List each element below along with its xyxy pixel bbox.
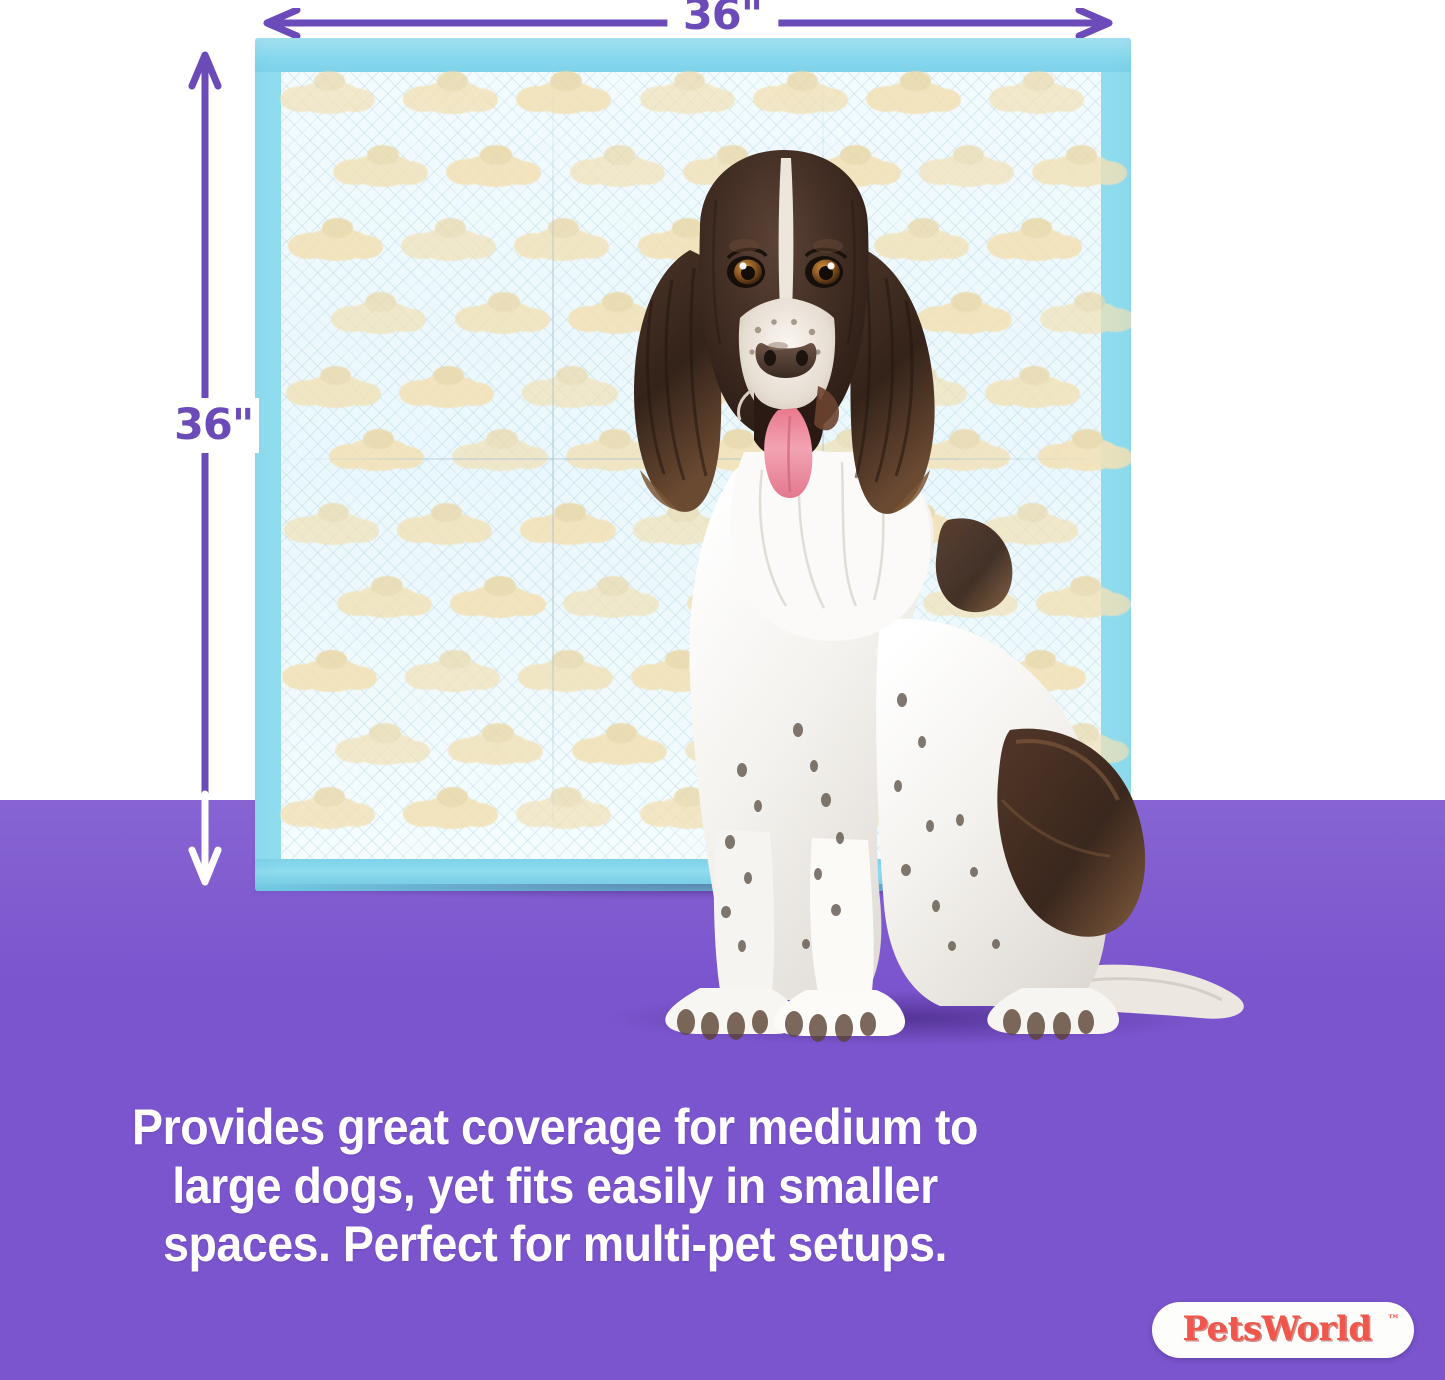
product-marketing-image: 36" 36" Provides great coverage for medi… [0, 0, 1445, 1380]
height-dimension-label: 36" [168, 398, 259, 453]
cloud-motif [655, 796, 723, 829]
cloud-motif [704, 438, 772, 471]
pad-top-border [255, 38, 1131, 72]
cloud-motif [648, 512, 716, 545]
cloud-motif [303, 228, 371, 261]
cloud-motif [936, 732, 1004, 765]
cloud-motif [414, 375, 482, 408]
cloud-motif [821, 154, 889, 187]
cloud-motif [934, 154, 1002, 187]
cloud-motif [1006, 659, 1074, 692]
cloud-motif [412, 512, 480, 545]
cloud-motif [768, 796, 836, 829]
cloud-motif [655, 81, 723, 114]
cloud-motif [531, 796, 599, 829]
cloud-motif [698, 154, 766, 187]
brand-logo: PetsWorld ™ [1152, 1302, 1414, 1358]
cloud-motif [1049, 732, 1117, 765]
cloud-motif [889, 228, 957, 261]
cloud-motif [1004, 81, 1072, 114]
cloud-motif [416, 228, 484, 261]
cloud-motif [585, 154, 653, 187]
cloud-motif [1047, 154, 1115, 187]
cloud-motif [770, 659, 838, 692]
cloud-motif [583, 301, 651, 334]
width-dimension-label: 36" [667, 0, 778, 37]
cloud-motif [881, 796, 949, 829]
cloud-motif [461, 154, 529, 187]
cloud-motif [531, 81, 599, 114]
cloud-motif [817, 438, 885, 471]
pad-quilted-field [281, 72, 1101, 859]
cloud-motif [299, 512, 367, 545]
cloud-motif [463, 732, 531, 765]
cloud-motif [297, 659, 365, 692]
cloud-motif [346, 301, 414, 334]
caption-text: Provides great coverage for medium to la… [39, 1098, 1071, 1274]
cloud-motif [1055, 301, 1123, 334]
cloud-motif [467, 438, 535, 471]
cloud-motif [529, 228, 597, 261]
cloud-motif [537, 375, 605, 408]
cloud-motif [587, 732, 655, 765]
cloud-motif [819, 301, 887, 334]
brand-name: PetsWorld [1182, 1312, 1371, 1346]
cloud-motif [535, 512, 603, 545]
pad-crease-vertical [552, 72, 554, 859]
cloud-motif [533, 659, 601, 692]
pad-cloud-pattern [281, 72, 1101, 859]
cloud-motif [295, 796, 363, 829]
cloud-motif [420, 659, 488, 692]
cloud-motif [465, 585, 533, 618]
cloud-motif [580, 438, 648, 471]
cloud-motif [1002, 228, 1070, 261]
cloud-motif [653, 228, 721, 261]
cloud-motif [301, 375, 369, 408]
cloud-motif [1000, 375, 1068, 408]
cloud-motif [1004, 796, 1072, 829]
caption-line-3: spaces. Perfect for multi-pet setups. [39, 1215, 1071, 1274]
cloud-motif [352, 585, 420, 618]
cloud-motif [768, 81, 836, 114]
cloud-motif [938, 585, 1006, 618]
pad-crease-vertical [822, 72, 824, 859]
cloud-motif [348, 154, 416, 187]
cloud-motif [887, 375, 955, 408]
trademark-icon: ™ [1387, 1313, 1400, 1328]
cloud-motif [469, 301, 537, 334]
cloud-motif [930, 438, 998, 471]
cloud-motif [646, 659, 714, 692]
caption-line-1: Provides great coverage for medium to [39, 1098, 1071, 1157]
cloud-motif [772, 512, 840, 545]
cloud-motif [650, 375, 718, 408]
cloud-motif [1053, 438, 1121, 471]
height-dimension-arrow [188, 42, 222, 892]
caption-line-2: large dogs, yet fits easily in smaller [39, 1157, 1071, 1216]
cloud-motif [700, 732, 768, 765]
pee-pad [255, 38, 1131, 891]
pad-bottom-border [255, 859, 1131, 891]
cloud-motif [815, 585, 883, 618]
cloud-motif [418, 796, 486, 829]
pad-crease-horizontal [281, 458, 1101, 460]
cloud-motif [344, 438, 412, 471]
cloud-motif [418, 81, 486, 114]
cloud-motif [696, 301, 764, 334]
cloud-motif [702, 585, 770, 618]
cloud-motif [932, 301, 1000, 334]
cloud-motif [1051, 585, 1119, 618]
cloud-motif [295, 81, 363, 114]
cloud-motif [578, 585, 646, 618]
cloud-motif [881, 81, 949, 114]
cloud-motif [350, 732, 418, 765]
cloud-motif [885, 512, 953, 545]
cloud-motif [998, 512, 1066, 545]
cloud-motif [883, 659, 951, 692]
